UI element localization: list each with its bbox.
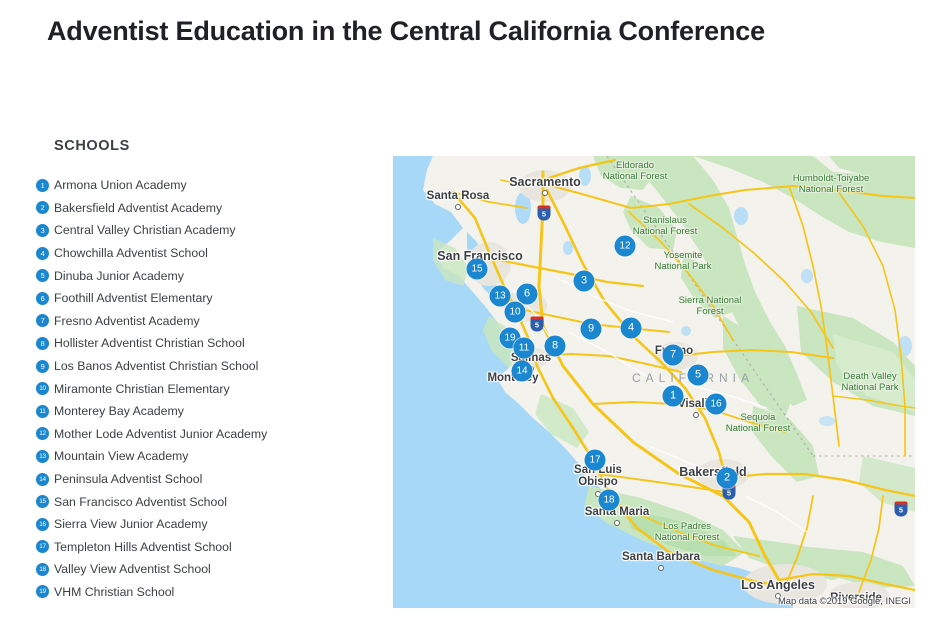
school-list-item[interactable]: 17Templeton Hills Adventist School: [36, 536, 376, 559]
school-number-badge: 3: [36, 224, 49, 237]
shield-number: 5: [895, 505, 908, 517]
schools-panel: SCHOOLS 1Armona Union Academy2Bakersfiel…: [36, 138, 376, 603]
map-city-dot-icon: [658, 565, 664, 571]
map-school-marker[interactable]: 4: [621, 318, 642, 339]
schools-list: 1Armona Union Academy2Bakersfield Advent…: [36, 174, 376, 603]
map-school-marker[interactable]: 10: [505, 302, 526, 323]
school-number-badge: 8: [36, 337, 49, 350]
map-school-marker[interactable]: 17: [585, 450, 606, 471]
map-school-marker[interactable]: 6: [517, 284, 538, 305]
school-list-item[interactable]: 6Foothill Adventist Elementary: [36, 287, 376, 310]
interstate-shield-icon: 5: [895, 502, 908, 517]
school-name-label: Mother Lode Adventist Junior Academy: [54, 427, 267, 441]
map-school-marker[interactable]: 1: [663, 386, 684, 407]
school-name-label: Peninsula Adventist School: [54, 472, 202, 486]
school-list-item[interactable]: 13Mountain View Academy: [36, 445, 376, 468]
map-school-marker[interactable]: 7: [663, 345, 684, 366]
shield-number: 5: [531, 320, 544, 332]
school-number-badge: 11: [36, 405, 49, 418]
map-school-marker[interactable]: 5: [688, 365, 709, 386]
map-school-marker[interactable]: 9: [581, 319, 602, 340]
school-number-badge: 2: [36, 201, 49, 214]
map-city-dot-icon: [693, 412, 699, 418]
school-name-label: Central Valley Christian Academy: [54, 223, 236, 237]
map-school-marker[interactable]: 18: [599, 490, 620, 511]
school-name-label: Miramonte Christian Elementary: [54, 382, 230, 396]
interstate-shield-icon: 5: [538, 206, 551, 221]
school-list-item[interactable]: 14Peninsula Adventist School: [36, 468, 376, 491]
shield-number: 5: [723, 488, 736, 500]
school-name-label: Chowchilla Adventist School: [54, 246, 208, 260]
map-base-graphic: [393, 156, 915, 608]
school-name-label: Templeton Hills Adventist School: [54, 540, 232, 554]
school-name-label: VHM Christian School: [54, 585, 174, 599]
school-number-badge: 16: [36, 518, 49, 531]
school-list-item[interactable]: 19VHM Christian School: [36, 581, 376, 604]
school-number-badge: 15: [36, 495, 49, 508]
school-name-label: Los Banos Adventist Christian School: [54, 359, 258, 373]
page-title: Adventist Education in the Central Calif…: [47, 16, 765, 47]
school-name-label: Fresno Adventist Academy: [54, 314, 200, 328]
school-list-item[interactable]: 18Valley View Adventist School: [36, 558, 376, 581]
school-number-badge: 19: [36, 585, 49, 598]
school-name-label: Valley View Adventist School: [54, 562, 211, 576]
school-number-badge: 5: [36, 269, 49, 282]
school-number-badge: 4: [36, 247, 49, 260]
school-number-badge: 9: [36, 360, 49, 373]
map-school-marker[interactable]: 16: [706, 394, 727, 415]
school-list-item[interactable]: 15San Francisco Adventist School: [36, 490, 376, 513]
school-name-label: Hollister Adventist Christian School: [54, 336, 245, 350]
school-list-item[interactable]: 9Los Banos Adventist Christian School: [36, 355, 376, 378]
school-list-item[interactable]: 3Central Valley Christian Academy: [36, 219, 376, 242]
school-name-label: San Francisco Adventist School: [54, 495, 227, 509]
map-school-marker[interactable]: 14: [512, 361, 533, 382]
map-school-marker[interactable]: 12: [615, 236, 636, 257]
map-school-marker[interactable]: 8: [545, 336, 566, 357]
school-number-badge: 13: [36, 450, 49, 463]
map-panel[interactable]: CALIFORNIA EldoradoNational ForestHumbol…: [393, 156, 915, 608]
map-city-dot-icon: [542, 190, 548, 196]
school-list-item[interactable]: 10Miramonte Christian Elementary: [36, 377, 376, 400]
school-number-badge: 12: [36, 427, 49, 440]
school-number-badge: 10: [36, 382, 49, 395]
school-name-label: Bakersfield Adventist Academy: [54, 201, 222, 215]
interstate-shield-icon: 5: [531, 317, 544, 332]
school-list-item[interactable]: 4Chowchilla Adventist School: [36, 242, 376, 265]
map-attribution: Map data ©2019 Google, INEGI: [778, 595, 911, 606]
school-name-label: Armona Union Academy: [54, 178, 187, 192]
school-name-label: Monterey Bay Academy: [54, 404, 184, 418]
school-list-item[interactable]: 7Fresno Adventist Academy: [36, 310, 376, 333]
school-number-badge: 1: [36, 179, 49, 192]
school-list-item[interactable]: 5Dinuba Junior Academy: [36, 264, 376, 287]
school-list-item[interactable]: 1Armona Union Academy: [36, 174, 376, 197]
school-list-item[interactable]: 16Sierra View Junior Academy: [36, 513, 376, 536]
school-list-item[interactable]: 11Monterey Bay Academy: [36, 400, 376, 423]
school-number-badge: 17: [36, 540, 49, 553]
school-list-item[interactable]: 8Hollister Adventist Christian School: [36, 332, 376, 355]
map-school-marker[interactable]: 3: [574, 271, 595, 292]
school-number-badge: 7: [36, 314, 49, 327]
map-school-marker[interactable]: 2: [717, 468, 738, 489]
shield-number: 5: [538, 209, 551, 221]
school-name-label: Dinuba Junior Academy: [54, 269, 184, 283]
school-list-item[interactable]: 12Mother Lode Adventist Junior Academy: [36, 423, 376, 446]
schools-heading: SCHOOLS: [54, 138, 376, 154]
map-school-marker[interactable]: 11: [514, 338, 535, 359]
school-number-badge: 18: [36, 563, 49, 576]
school-name-label: Mountain View Academy: [54, 449, 188, 463]
school-number-badge: 6: [36, 292, 49, 305]
school-list-item[interactable]: 2Bakersfield Adventist Academy: [36, 197, 376, 220]
map-city-dot-icon: [455, 204, 461, 210]
map-city-dot-icon: [614, 520, 620, 526]
school-name-label: Sierra View Junior Academy: [54, 517, 208, 531]
school-name-label: Foothill Adventist Elementary: [54, 291, 213, 305]
map-school-marker[interactable]: 15: [467, 259, 488, 280]
school-number-badge: 14: [36, 473, 49, 486]
